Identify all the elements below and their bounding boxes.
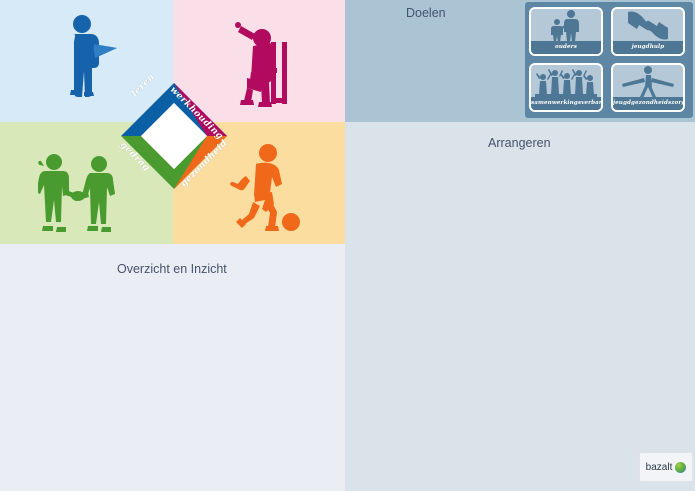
panel-arrangeren[interactable] xyxy=(345,122,695,491)
partner-tiles: ouders jeugdhulp xyxy=(525,2,693,118)
globe-icon xyxy=(675,462,686,473)
group-of-people-icon xyxy=(531,65,601,98)
panel-doelen-caption: Doelen xyxy=(406,6,446,20)
quadrant-grid: leren werkhouding gedrag gezondheid xyxy=(0,0,345,244)
child-raising-hand-icon xyxy=(235,12,295,110)
tile-label: ouders xyxy=(531,41,601,54)
panel-overzicht-en-inzicht[interactable] xyxy=(0,244,345,491)
tile-label: jeugdhulp xyxy=(613,41,683,54)
app-canvas: leren werkhouding gedrag gezondheid Doel… xyxy=(0,0,695,491)
child-reading-icon xyxy=(60,14,118,106)
child-playing-ball-icon xyxy=(228,142,300,234)
tile-label: jeugdgezondheidszorg xyxy=(613,97,683,110)
cartwheel-child-icon xyxy=(613,65,683,98)
tile-ouders[interactable]: ouders xyxy=(529,7,603,56)
tile-jeugdgezondheidszorg[interactable]: jeugdgezondheidszorg xyxy=(611,63,685,112)
panel-arrangeren-caption: Arrangeren xyxy=(488,136,551,150)
two-children-icon xyxy=(38,150,116,236)
central-diamond[interactable] xyxy=(119,81,229,191)
parent-and-child-icon xyxy=(531,9,601,42)
tile-jeugdhulp[interactable]: jeugdhulp xyxy=(611,7,685,56)
bazalt-logo[interactable]: bazalt xyxy=(639,452,693,482)
logo-text: bazalt xyxy=(646,462,673,473)
helping-hands-icon xyxy=(613,9,683,42)
tile-label: samenwerkingsverband xyxy=(531,97,601,110)
panel-overzicht-caption: Overzicht en Inzicht xyxy=(117,262,227,276)
tile-samenwerkingsverband[interactable]: samenwerkingsverband xyxy=(529,63,603,112)
